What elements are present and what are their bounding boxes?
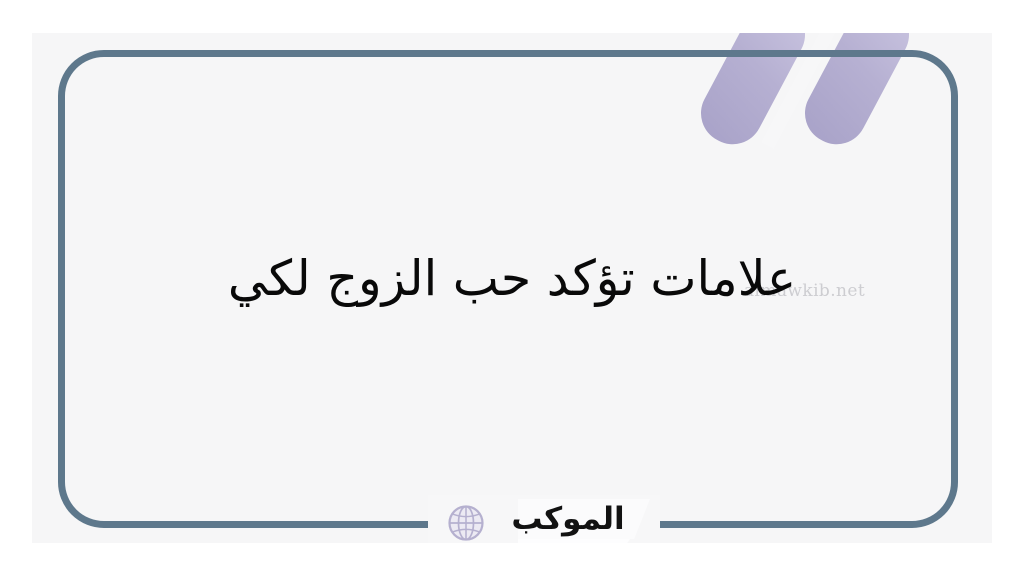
- globe-icon: [446, 503, 486, 543]
- content-card: almawkib.net علامات تؤكد حب الزوج لكي ال: [32, 33, 992, 543]
- brand-logo[interactable]: الموكب almawkib: [428, 495, 660, 543]
- slide-canvas: almawkib.net علامات تؤكد حب الزوج لكي ال: [0, 0, 1024, 576]
- brand-name-arabic: الموكب: [494, 499, 642, 539]
- page-title: علامات تؤكد حب الزوج لكي: [228, 243, 796, 314]
- brand-name-latin: almawkib: [494, 539, 634, 543]
- headline-container: علامات تؤكد حب الزوج لكي: [32, 33, 992, 543]
